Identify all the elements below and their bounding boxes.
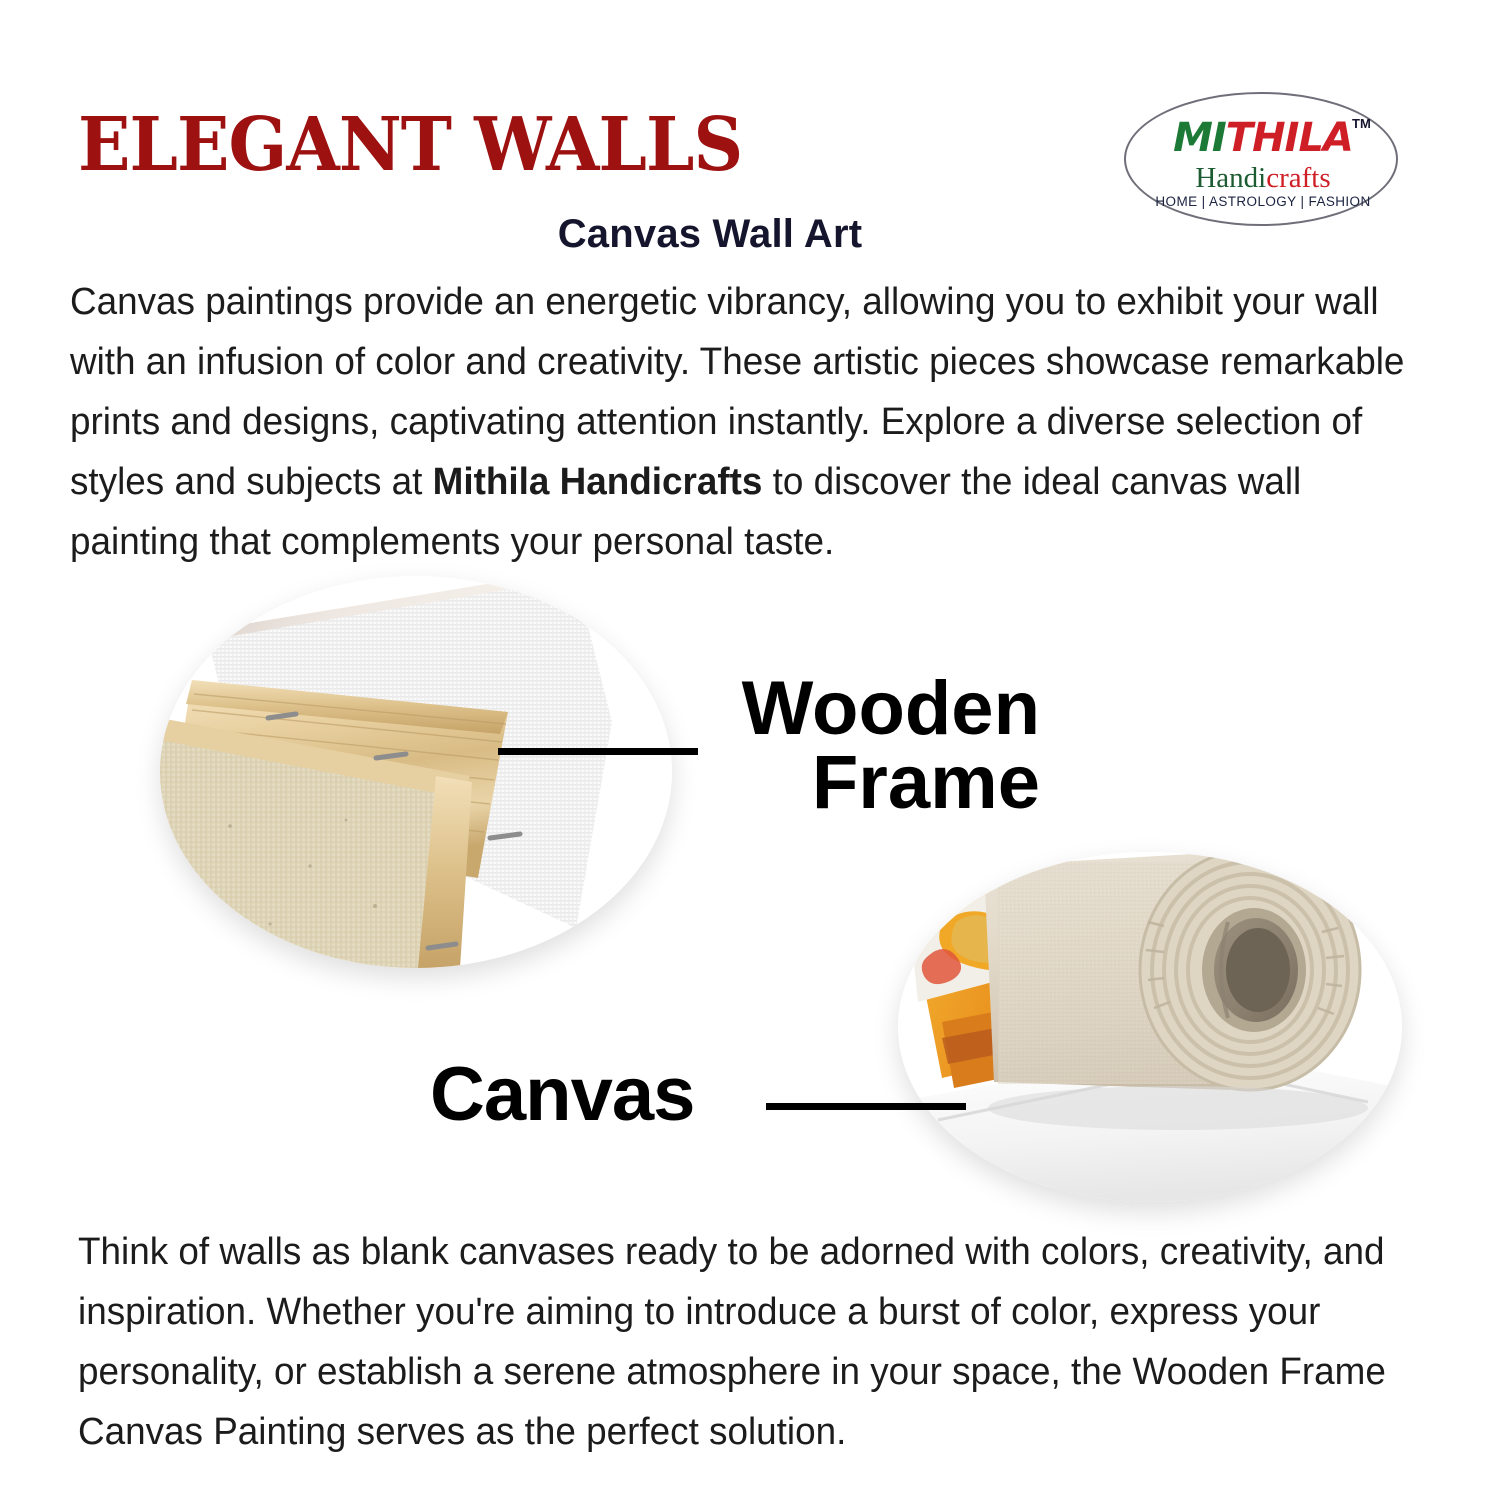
canvas-roll-photo xyxy=(898,852,1402,1202)
logo-subname: Handicrafts xyxy=(1126,164,1400,193)
page-title: ELEGANT WALLS xyxy=(78,108,742,182)
intro-paragraph: Canvas paintings provide an energetic vi… xyxy=(70,272,1409,572)
logo-tagline: HOME | ASTROLOGY | FASHION xyxy=(1126,194,1400,209)
logo-subname-green: Handi xyxy=(1195,162,1266,194)
infographic-page: ELEGANT WALLS Canvas Wall Art MITHILA TM… xyxy=(0,0,1500,1500)
closing-paragraph: Think of walls as blank canvases ready t… xyxy=(78,1222,1407,1462)
brand-mention: Mithila Handicrafts xyxy=(433,461,763,503)
canvas-leader-line xyxy=(766,1103,966,1110)
wooden-frame-label: Wooden Frame xyxy=(700,672,1040,821)
wooden-frame-leader-line xyxy=(498,748,698,755)
brand-logo: MITHILA TM Handicrafts HOME | ASTROLOGY … xyxy=(1124,92,1398,226)
trademark-icon: TM xyxy=(1352,116,1371,131)
logo-wordmark-red: THILA xyxy=(1226,115,1353,161)
wooden-frame-photo xyxy=(160,576,672,968)
logo-wordmark-green: MI xyxy=(1173,115,1226,161)
canvas-label: Canvas xyxy=(430,1058,760,1132)
logo-subname-red: crafts xyxy=(1266,162,1330,194)
